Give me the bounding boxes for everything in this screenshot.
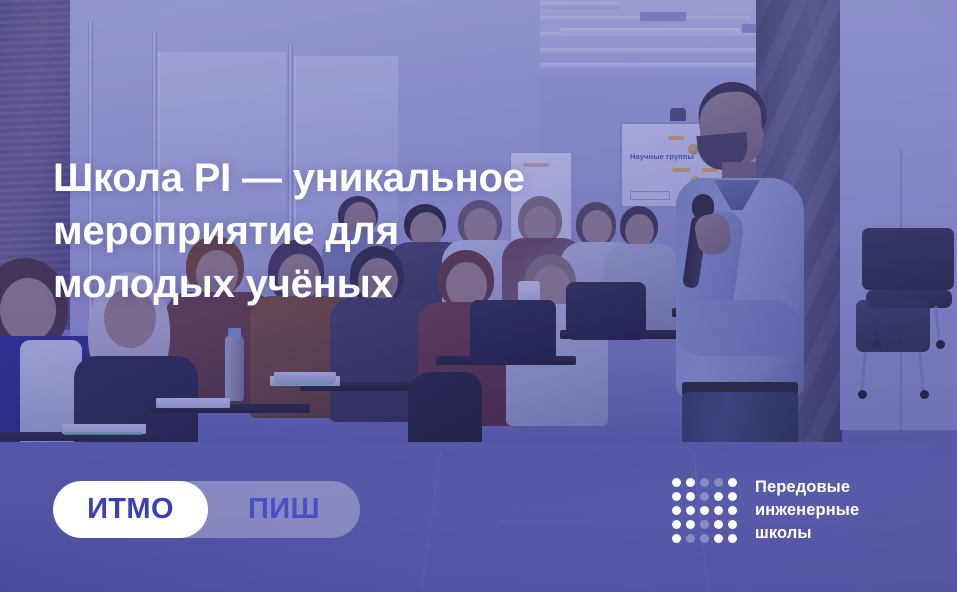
dot-3-4 (714, 506, 723, 515)
dot-4-3 (700, 520, 709, 529)
dot-3-2 (686, 506, 695, 515)
badge-itmo-label[interactable]: ИТМО (53, 481, 208, 538)
dot-5-5 (728, 534, 737, 543)
dot-4-2 (686, 520, 695, 529)
dot-4-4 (714, 520, 723, 529)
dot-3-3 (700, 506, 709, 515)
dot-grid-icon (672, 478, 737, 543)
dot-2-5 (728, 492, 737, 501)
banner-root: Научные группы (0, 0, 957, 592)
itmo-pish-badge[interactable]: ИТМО ПИШ (53, 481, 360, 538)
dot-4-1 (672, 520, 681, 529)
dot-2-2 (686, 492, 695, 501)
dot-5-2 (686, 534, 695, 543)
dot-4-5 (728, 520, 737, 529)
dot-3-1 (672, 506, 681, 515)
dot-2-1 (672, 492, 681, 501)
dot-1-1 (672, 478, 681, 487)
pish-logo-text: Передовые инженерные школы (755, 476, 859, 545)
advanced-engineering-schools-logo[interactable]: Передовые инженерные школы (672, 476, 859, 545)
dot-1-4 (714, 478, 723, 487)
dot-3-5 (728, 506, 737, 515)
dot-1-3 (700, 478, 709, 487)
dot-2-4 (714, 492, 723, 501)
dot-1-5 (728, 478, 737, 487)
page-title: Школа PI — уникальное мероприятие для мо… (53, 152, 653, 311)
dot-5-1 (672, 534, 681, 543)
dot-2-3 (700, 492, 709, 501)
dot-5-3 (700, 534, 709, 543)
dot-5-4 (714, 534, 723, 543)
badge-pish-label[interactable]: ПИШ (208, 481, 360, 538)
dot-1-2 (686, 478, 695, 487)
content-layer: Школа PI — уникальное мероприятие для мо… (0, 0, 957, 592)
